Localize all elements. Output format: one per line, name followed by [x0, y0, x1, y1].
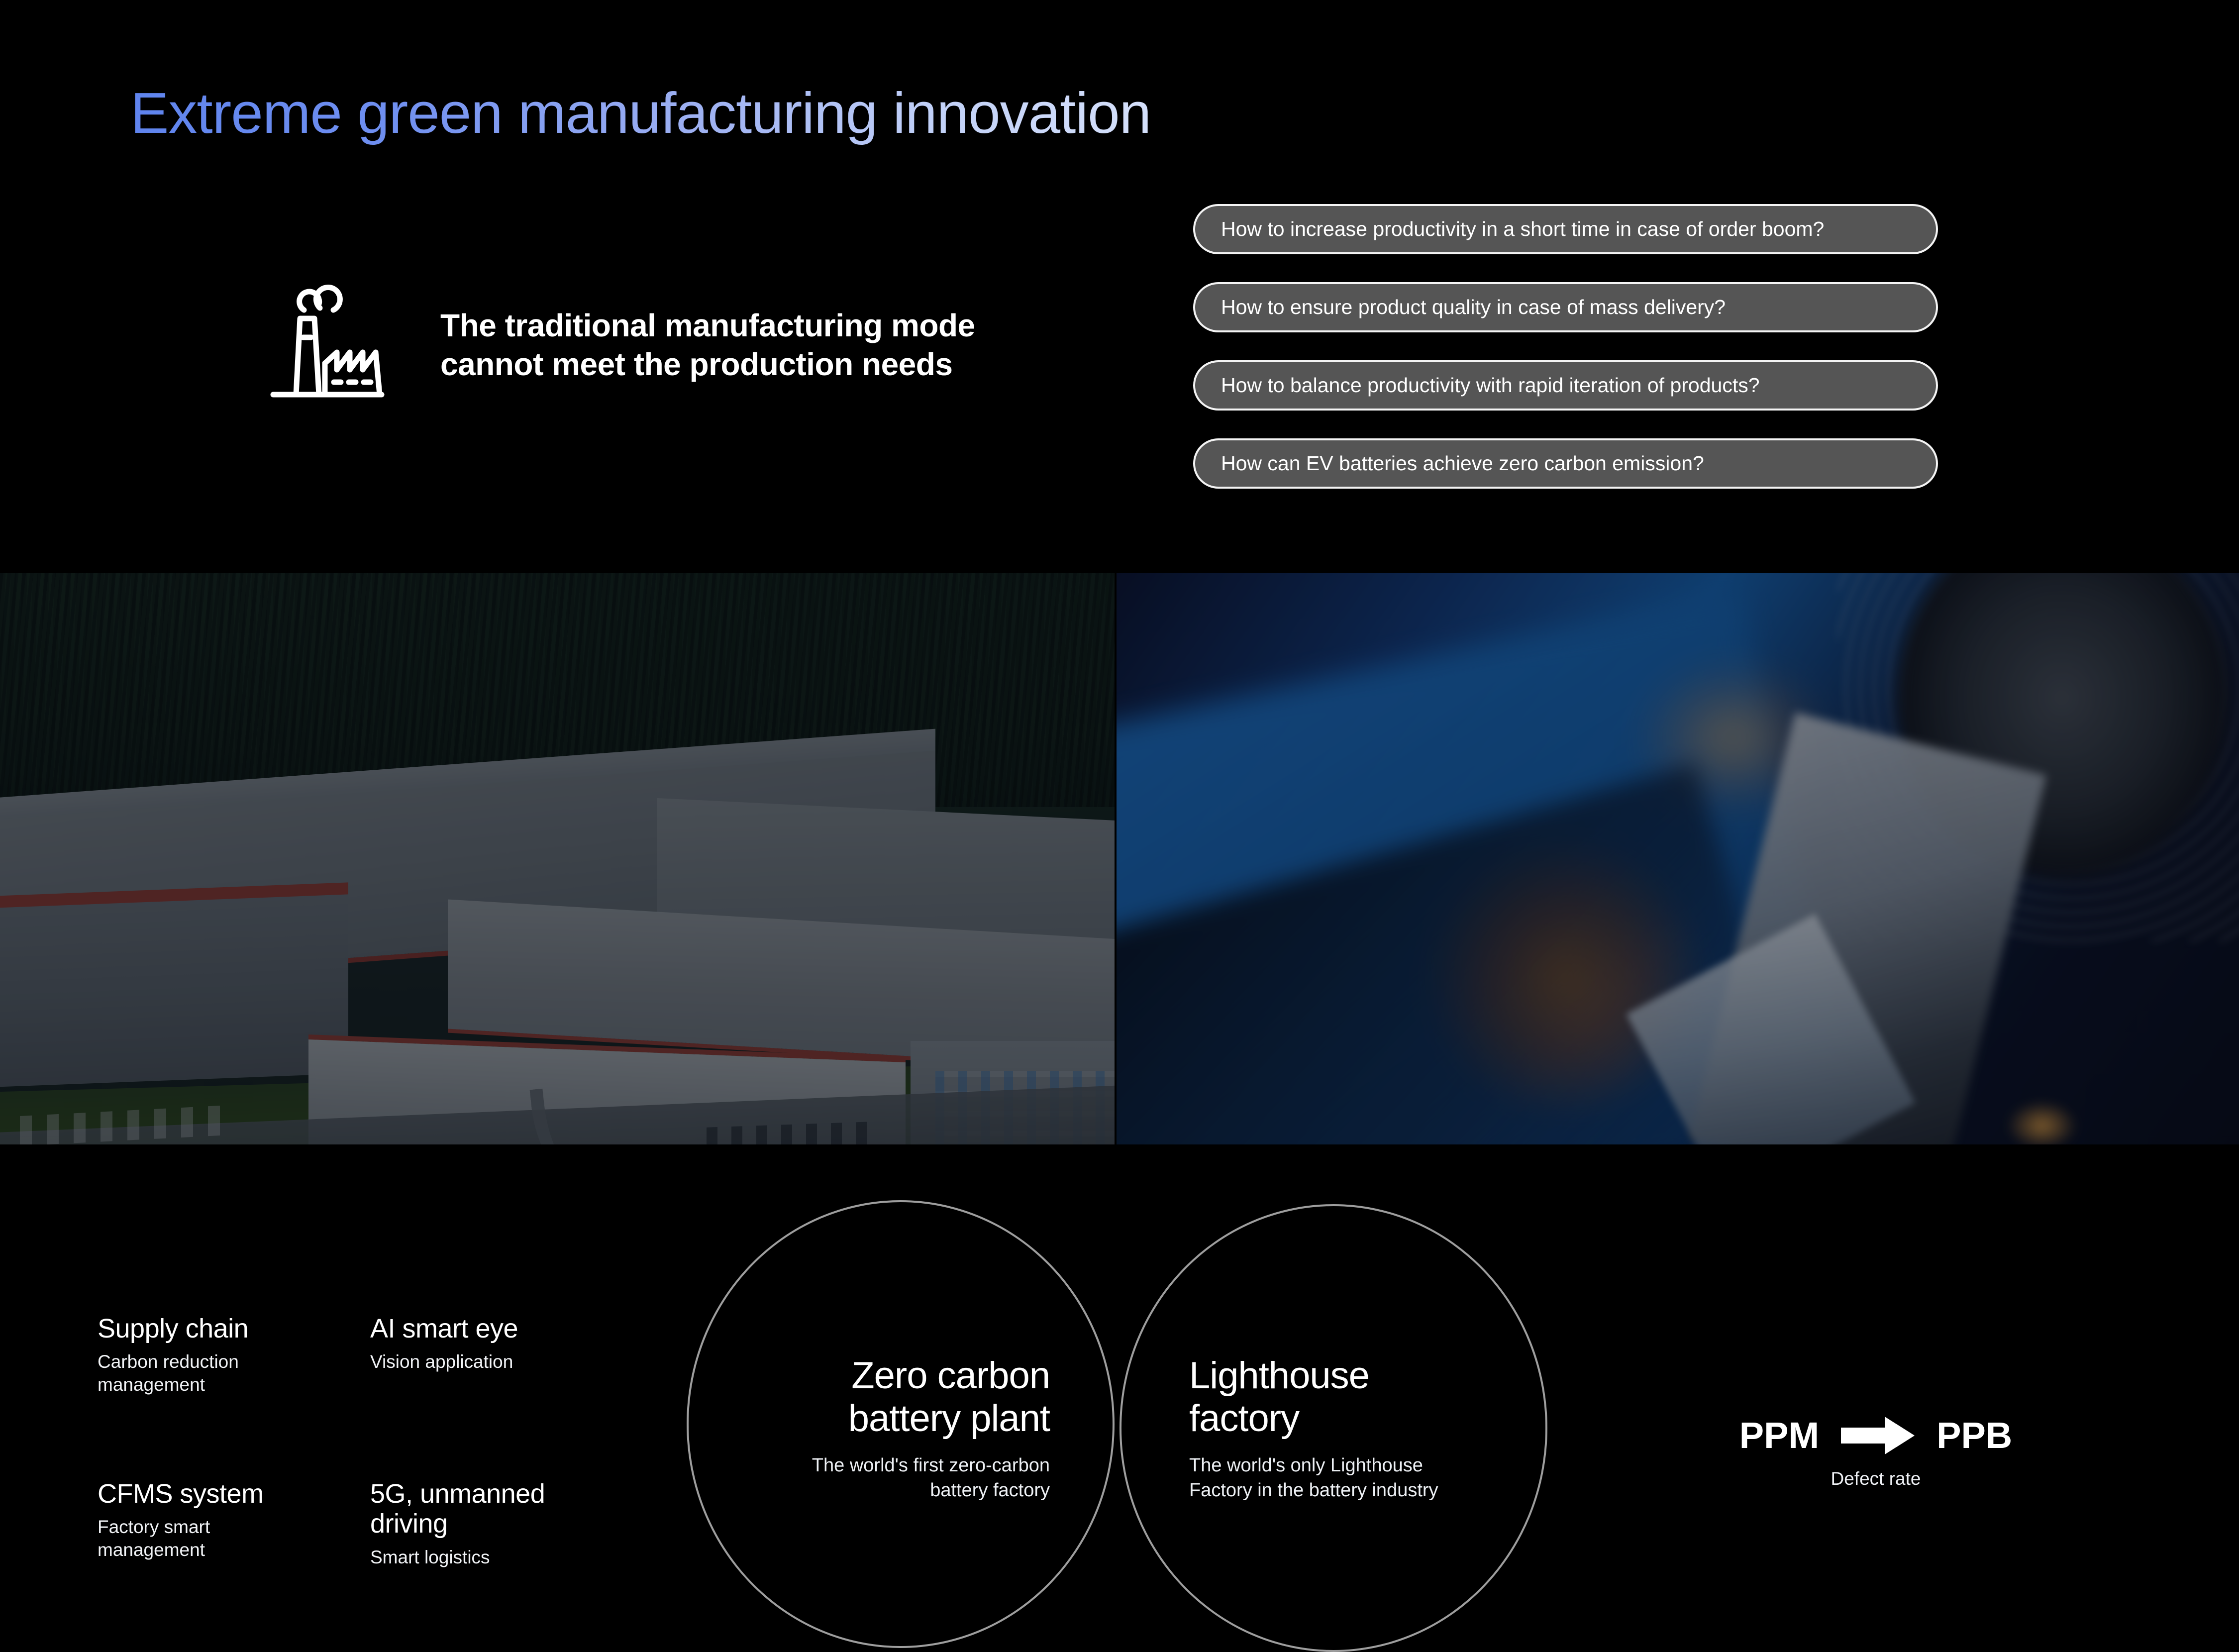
photo-darken-overlay: [0, 573, 1115, 1144]
feature-subtitle-line-1: Factory smart: [98, 1516, 264, 1538]
feature-title: Supply chain: [98, 1314, 248, 1343]
feature-subtitle-line-2: management: [98, 1373, 248, 1396]
question-pill-1[interactable]: How to increase productivity in a short …: [1193, 204, 1938, 254]
defect-unit-to: PPB: [1936, 1414, 2012, 1456]
callout-title-line-2: battery plant: [627, 1397, 1050, 1440]
callout-lighthouse-factory: Lighthouse factory The world's only Ligh…: [1189, 1354, 1612, 1503]
question-pill-label: How to increase productivity in a short …: [1221, 217, 1824, 241]
feature-subtitle-line-1: Carbon reduction: [98, 1350, 248, 1373]
feature-supply-chain: Supply chain Carbon reduction management: [98, 1314, 248, 1396]
statement-block: The traditional manufacturing mode canno…: [440, 306, 1087, 384]
callout-subtitle: The world's only Lighthouse Factory in t…: [1189, 1453, 1612, 1503]
feature-5g-unmanned-driving: 5G, unmanned driving Smart logistics: [370, 1479, 545, 1568]
callout-title-line-1: Zero carbon: [627, 1354, 1050, 1397]
question-pill-label: How can EV batteries achieve zero carbon…: [1221, 452, 1704, 475]
defect-rate-row: PPM PPB: [1682, 1414, 2070, 1456]
feature-title: 5G, unmanned: [370, 1479, 545, 1509]
factory-icon: [261, 271, 386, 398]
feature-subtitle-line-2: management: [98, 1539, 264, 1561]
question-pill-4[interactable]: How can EV batteries achieve zero carbon…: [1193, 438, 1938, 489]
question-list: How to increase productivity in a short …: [1193, 204, 1938, 516]
question-pill-2[interactable]: How to ensure product quality in case of…: [1193, 282, 1938, 332]
callout-title-line-1: Lighthouse: [1189, 1354, 1612, 1397]
defect-rate-caption: Defect rate: [1682, 1468, 2070, 1489]
feature-subtitle: Carbon reduction management: [98, 1350, 248, 1395]
statement-line-1: The traditional manufacturing mode: [440, 306, 1087, 345]
question-pill-label: How to ensure product quality in case of…: [1221, 296, 1726, 319]
defect-rate-block: PPM PPB Defect rate: [1682, 1414, 2070, 1489]
defect-unit-from: PPM: [1739, 1414, 1819, 1456]
callout-subtitle: The world's first zero-carbon battery fa…: [627, 1453, 1050, 1503]
feature-title-line-2: driving: [370, 1509, 545, 1539]
callout-zero-carbon-battery-plant: Zero carbon battery plant The world's fi…: [627, 1354, 1050, 1503]
feature-subtitle-line-1: Vision application: [370, 1350, 518, 1373]
photo-band: Supply chain Carbon reduction management…: [0, 573, 2239, 1144]
feature-title: AI smart eye: [370, 1314, 518, 1343]
page-title: Extreme green manufacturing innovation: [130, 80, 1151, 146]
right-arrow-icon: [1841, 1416, 1915, 1455]
feature-title: CFMS system: [98, 1479, 264, 1509]
feature-subtitle: Factory smart management: [98, 1516, 264, 1560]
callout-title-line-2: factory: [1189, 1397, 1612, 1440]
feature-ai-smart-eye: AI smart eye Vision application: [370, 1314, 518, 1373]
callout-subtitle-line-1: The world's only Lighthouse: [1189, 1453, 1612, 1478]
statement-line-2: cannot meet the production needs: [440, 345, 1087, 384]
question-pill-3[interactable]: How to balance productivity with rapid i…: [1193, 360, 1938, 411]
feature-subtitle-line-1: Smart logistics: [370, 1546, 545, 1568]
callout-subtitle-line-1: The world's first zero-carbon: [627, 1453, 1050, 1478]
feature-subtitle: Smart logistics: [370, 1546, 545, 1568]
factory-aerial-photo: [0, 573, 1115, 1144]
question-pill-label: How to balance productivity with rapid i…: [1221, 374, 1760, 397]
callout-subtitle-line-2: Factory in the battery industry: [1189, 1478, 1612, 1503]
industrial-closeup-photo: [1117, 573, 2239, 1144]
feature-cfms-system: CFMS system Factory smart management: [98, 1479, 264, 1561]
photo-darken-overlay: [1117, 573, 2239, 1144]
feature-subtitle: Vision application: [370, 1350, 518, 1373]
callout-subtitle-line-2: battery factory: [627, 1478, 1050, 1503]
top-black-section: Extreme green manufacturing innovation T…: [0, 0, 2239, 573]
